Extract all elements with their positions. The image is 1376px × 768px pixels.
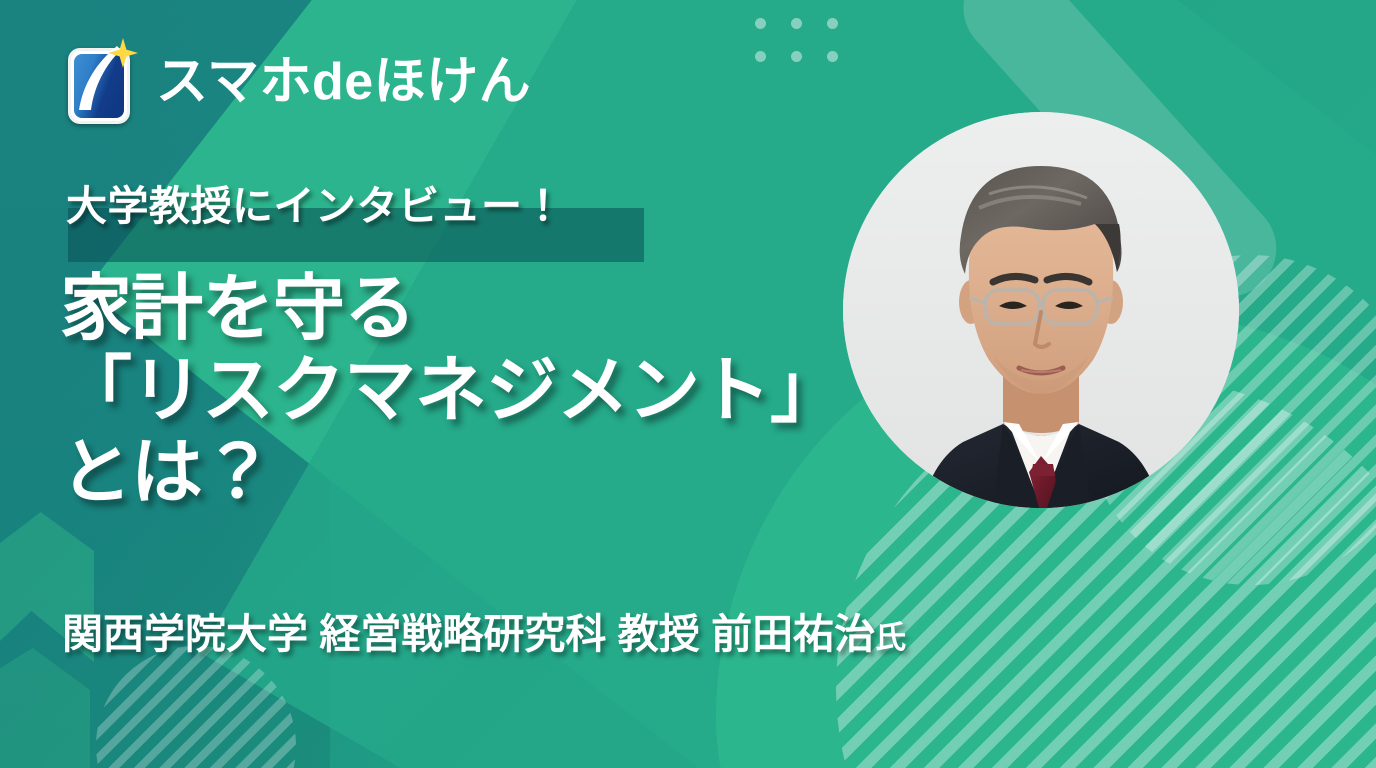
headline-line-1: 家計を守る bbox=[60, 268, 841, 350]
subtitle-group: 大学教授にインタビュー！ bbox=[62, 186, 568, 227]
smartphone-sparkle-icon bbox=[68, 40, 134, 124]
speaker-credit-suffix: 氏 bbox=[875, 620, 906, 655]
dot-icon bbox=[827, 51, 838, 62]
headline-line-2: 「リスクマネジメント」 bbox=[60, 350, 841, 432]
brand-logo-text: スマホdeほけん bbox=[156, 56, 531, 108]
subtitle-text: 大学教授にインタビュー！ bbox=[62, 186, 568, 227]
dot-grid-decoration bbox=[755, 18, 863, 84]
headline-line-3: とは？ bbox=[60, 432, 841, 514]
speaker-portrait bbox=[843, 112, 1239, 508]
dot-icon bbox=[791, 51, 802, 62]
dot-icon bbox=[755, 51, 766, 62]
thumbnail-canvas: スマホdeほけん 大学教授にインタビュー！ 家計を守る 「リスクマネジメント」 … bbox=[0, 0, 1376, 768]
speaker-credit: 関西学院大学 経営戦略研究科 教授 前田祐治氏 bbox=[62, 614, 906, 655]
sparkle-icon bbox=[108, 38, 138, 68]
dot-icon bbox=[755, 18, 766, 29]
page-title: 家計を守る 「リスクマネジメント」 とは？ bbox=[60, 268, 841, 514]
dot-icon bbox=[791, 18, 802, 29]
dot-icon bbox=[827, 18, 838, 29]
speaker-credit-main: 関西学院大学 経営戦略研究科 教授 前田祐治 bbox=[62, 611, 875, 657]
portrait-illustration bbox=[843, 112, 1239, 508]
brand-logo[interactable]: スマホdeほけん bbox=[68, 40, 531, 124]
